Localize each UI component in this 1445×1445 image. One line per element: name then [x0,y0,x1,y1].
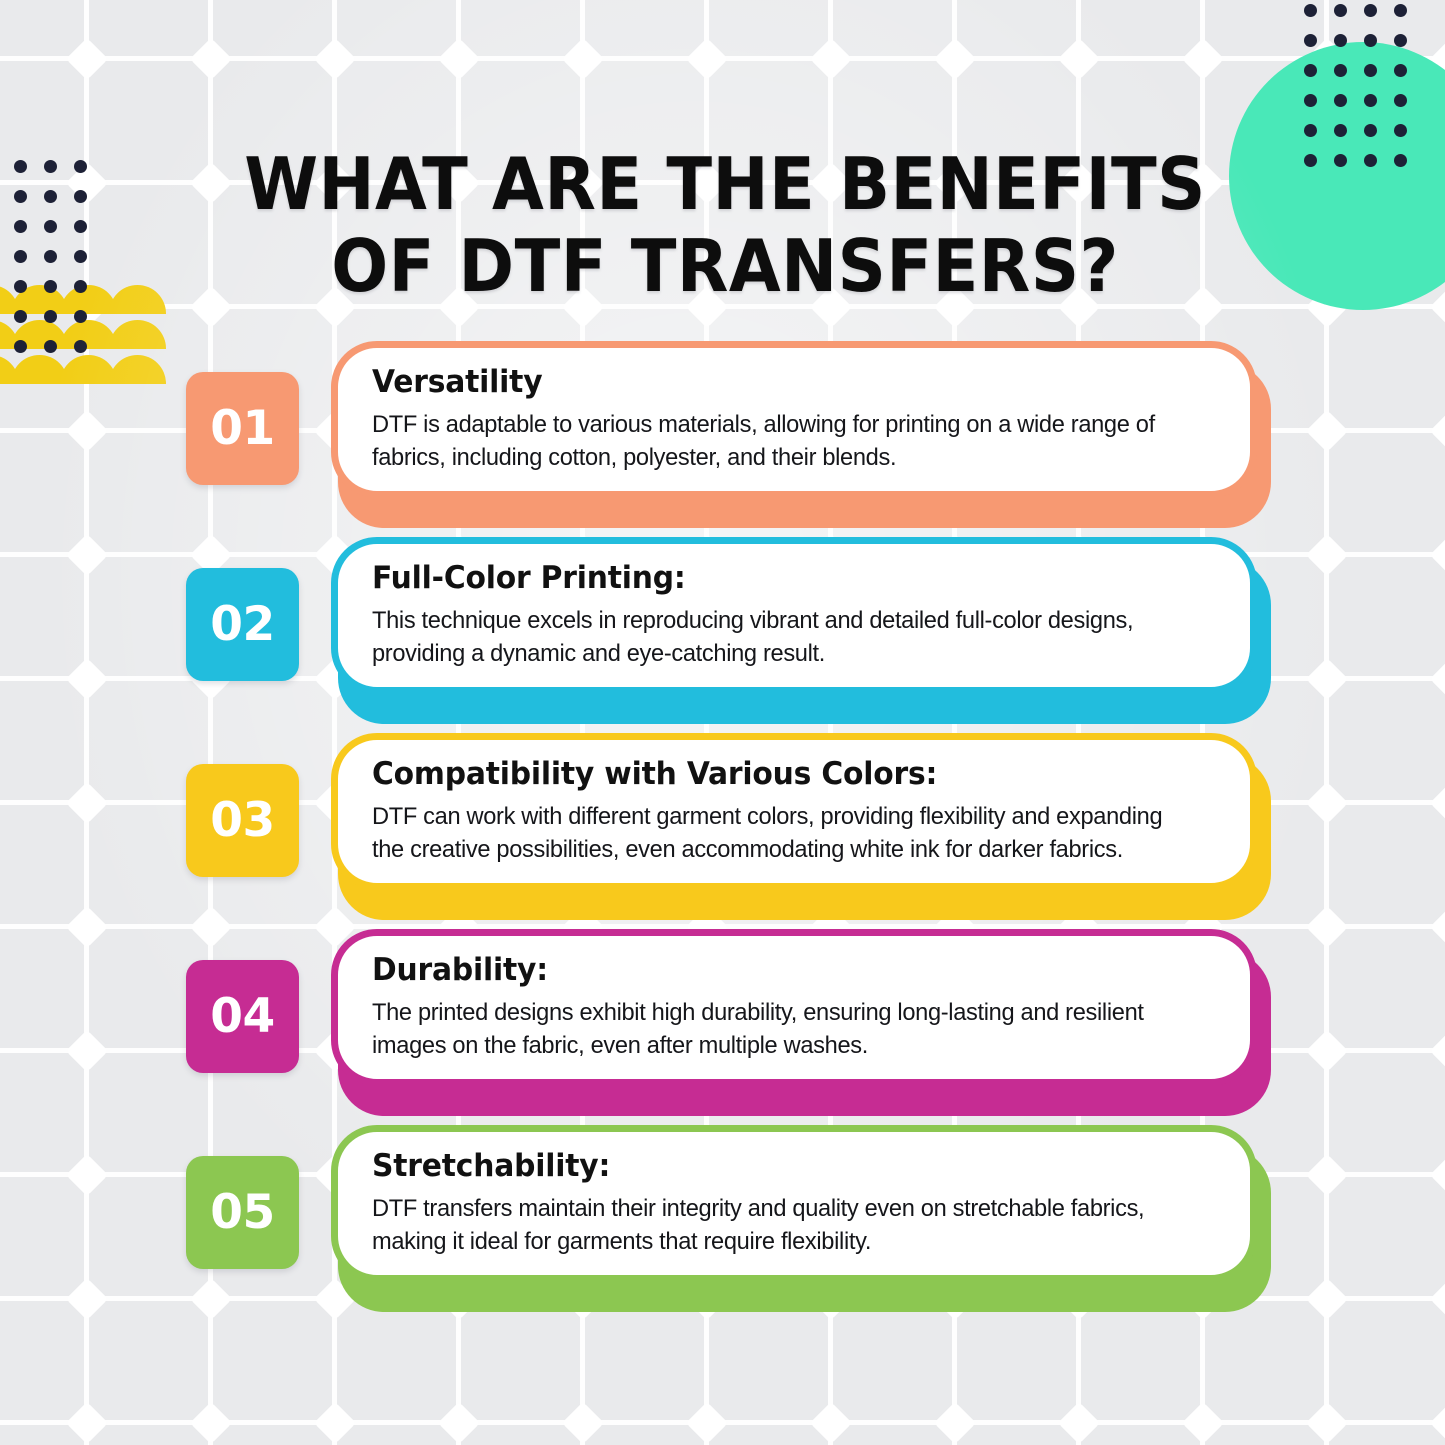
decorative-dot [14,160,27,173]
decorative-dot [44,220,57,233]
grid-node [1057,1401,1099,1443]
grid-node [65,781,107,823]
grid-node [1305,1153,1347,1195]
grid-node [65,533,107,575]
benefit-card: 02Full-Color Printing:This technique exc… [186,537,1271,713]
decorative-dot [1304,34,1317,47]
decorative-dot [1334,34,1347,47]
decorative-dot [74,340,87,353]
card-panel: Full-Color Printing:This technique excel… [331,537,1257,694]
decorative-dot [1394,94,1407,107]
dot-grid-top-left [14,160,104,370]
decorative-dot [74,220,87,233]
decorative-dot [1364,154,1377,167]
decorative-dot [44,340,57,353]
grid-node [437,1401,479,1443]
card-title: Compatibility with Various Colors: [372,759,1182,790]
decorative-dot [1334,154,1347,167]
decorative-dot [1394,124,1407,137]
grid-node [685,37,727,79]
grid-node [65,37,107,79]
card-body: This technique excels in reproducing vib… [372,604,1186,671]
decorative-dot [14,250,27,263]
decorative-dot [1334,64,1347,77]
grid-node [1429,533,1445,575]
benefit-card: 01VersatilityDTF is adaptable to various… [186,341,1271,517]
grid-node [65,1153,107,1195]
card-number-badge: 03 [186,764,299,877]
page-title: WHAT ARE THE BENEFITS OF DTF TRANSFERS? [218,143,1232,307]
decorative-dot [1304,124,1317,137]
card-body: The printed designs exhibit high durabil… [372,996,1186,1063]
card-number: 03 [210,793,274,848]
yellow-dome [109,285,166,314]
card-panel: Compatibility with Various Colors:DTF ca… [331,733,1257,890]
grid-node [1429,1029,1445,1071]
grid-node [809,1401,851,1443]
decorative-dot [74,250,87,263]
decorative-dot [74,280,87,293]
card-title: Durability: [372,955,1182,986]
decorative-dot [14,220,27,233]
decorative-dot [1394,4,1407,17]
grid-node [1305,1029,1347,1071]
grid-node [809,37,851,79]
grid-node [313,1401,355,1443]
card-number: 04 [210,989,274,1044]
grid-node [189,37,231,79]
grid-node [1429,905,1445,947]
card-number-badge: 02 [186,568,299,681]
grid-node [313,37,355,79]
benefit-card: 03Compatibility with Various Colors:DTF … [186,733,1271,909]
grid-node [1305,1277,1347,1319]
card-number-badge: 05 [186,1156,299,1269]
decorative-dot [44,250,57,263]
card-body: DTF is adaptable to various materials, a… [372,408,1186,475]
decorative-dot [1364,94,1377,107]
grid-node [1429,781,1445,823]
grid-node [65,1029,107,1071]
card-number-badge: 01 [186,372,299,485]
grid-node [1181,1401,1223,1443]
card-number: 01 [210,401,274,456]
card-title: Stretchability: [372,1151,1182,1182]
yellow-dome [109,320,166,349]
grid-node [561,1401,603,1443]
grid-node [65,657,107,699]
grid-node [189,1401,231,1443]
decorative-dot [1334,94,1347,107]
decorative-dot [1304,64,1317,77]
grid-node [65,905,107,947]
decorative-dot [1304,94,1317,107]
grid-node [933,37,975,79]
grid-node [1305,905,1347,947]
dot-grid-top-right [1304,4,1439,179]
card-body: DTF transfers maintain their integrity a… [372,1192,1186,1259]
decorative-dot [14,190,27,203]
grid-node [1429,1277,1445,1319]
grid-node [933,1401,975,1443]
decorative-dot [44,310,57,323]
decorative-dot [1304,154,1317,167]
grid-node [1057,37,1099,79]
grid-node [1305,657,1347,699]
card-number: 05 [210,1185,274,1240]
grid-node [1181,37,1223,79]
decorative-dot [44,280,57,293]
grid-node [1429,409,1445,451]
card-number: 02 [210,597,274,652]
decorative-dot [44,190,57,203]
decorative-dot [1334,124,1347,137]
decorative-dot [14,340,27,353]
grid-node [65,1401,107,1443]
decorative-dot [74,190,87,203]
card-panel: VersatilityDTF is adaptable to various m… [331,341,1257,498]
grid-node [1305,1401,1347,1443]
decorative-dot [44,160,57,173]
grid-node [1429,285,1445,327]
decorative-dot [74,310,87,323]
grid-node [561,37,603,79]
decorative-dot [1394,64,1407,77]
decorative-dot [14,310,27,323]
grid-node [1429,1153,1445,1195]
card-number-badge: 04 [186,960,299,1073]
grid-node [437,37,479,79]
decorative-dot [1334,4,1347,17]
grid-node [1305,533,1347,575]
infographic-poster: WHAT ARE THE BENEFITS OF DTF TRANSFERS? … [0,0,1445,1445]
card-panel: Stretchability:DTF transfers maintain th… [331,1125,1257,1282]
decorative-dot [1364,124,1377,137]
grid-node [65,409,107,451]
card-title: Versatility [372,367,1182,398]
decorative-dot [1364,34,1377,47]
grid-node [1305,781,1347,823]
yellow-dome [109,355,166,384]
benefit-card: 04Durability:The printed designs exhibit… [186,929,1271,1105]
benefit-card: 05Stretchability:DTF transfers maintain … [186,1125,1271,1301]
decorative-dot [1394,154,1407,167]
grid-node [1429,657,1445,699]
decorative-dot [1304,4,1317,17]
decorative-dot [1364,64,1377,77]
grid-node [1305,409,1347,451]
decorative-dot [14,280,27,293]
decorative-dot [1364,4,1377,17]
grid-node [65,1277,107,1319]
card-body: DTF can work with different garment colo… [372,800,1186,867]
decorative-dot [74,160,87,173]
grid-node [685,1401,727,1443]
grid-node [1429,1401,1445,1443]
card-title: Full-Color Printing: [372,563,1182,594]
card-panel: Durability:The printed designs exhibit h… [331,929,1257,1086]
decorative-dot [1394,34,1407,47]
